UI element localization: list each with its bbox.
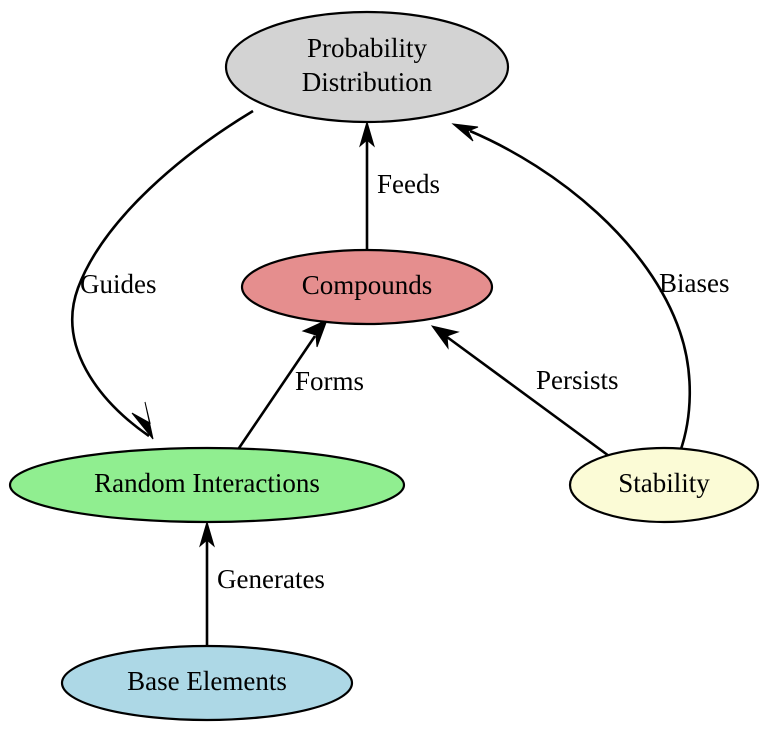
node-label-line1: Probability [307,33,427,63]
edge-guides[interactable]: Guides [72,111,253,439]
edge-label-feeds: Feeds [377,169,440,199]
edge-label-persists: Persists [536,365,619,395]
edge-forms[interactable]: Forms [237,320,364,451]
node-probability-distribution[interactable]: Probability Distribution [226,12,508,122]
node-label: Base Elements [127,666,287,696]
node-label: Random Interactions [94,468,320,498]
edge-label-biases: Biases [659,268,730,298]
edge-label-generates: Generates [217,564,325,594]
edge-biases[interactable]: Biases [453,124,730,452]
node-label-line2: Distribution [302,67,433,97]
node-base-elements[interactable]: Base Elements [62,646,352,720]
node-label: Stability [618,468,710,498]
diagram-canvas: Guides Feeds Biases Forms Persists [0,0,768,736]
edges-layer: Guides Feeds Biases Forms Persists [72,111,729,645]
arrowhead-icon [303,320,327,347]
edge-feeds[interactable]: Feeds [360,122,440,249]
node-compounds[interactable]: Compounds [242,250,492,324]
concept-graph: Guides Feeds Biases Forms Persists [0,0,768,736]
node-random-interactions[interactable]: Random Interactions [10,448,404,522]
edge-persists[interactable]: Persists [432,326,619,456]
edge-label-forms: Forms [295,366,364,396]
edge-persists-path [447,337,609,456]
node-stability[interactable]: Stability [570,448,758,522]
edge-generates[interactable]: Generates [200,522,325,645]
edge-biases-path [470,131,690,452]
nodes-layer: Probability Distribution Compounds Rando… [10,12,758,720]
arrowhead-icon [432,326,458,348]
edge-label-guides: Guides [80,269,157,299]
node-label: Compounds [302,270,433,300]
arrowhead-icon [132,402,153,439]
